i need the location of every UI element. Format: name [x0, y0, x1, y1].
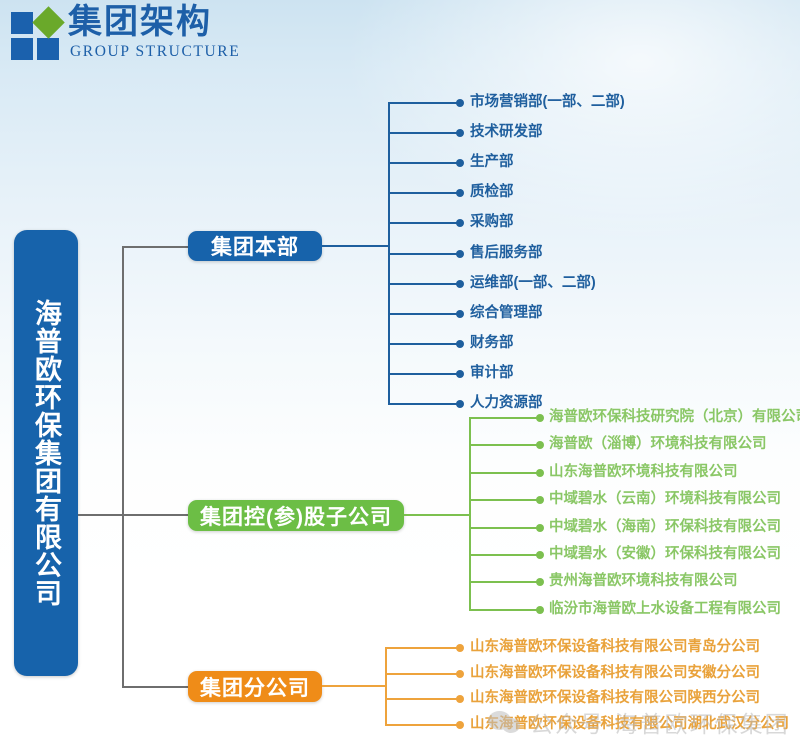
leaf-node-subsidiaries-7[interactable]: 临汾市海普欧上水设备工程有限公司	[549, 601, 781, 617]
leaf-node-headquarters-5[interactable]: 售后服务部	[470, 245, 543, 261]
wechat-icon	[488, 709, 522, 735]
trunk-connector-hq	[122, 246, 190, 248]
connector-line-headquarters-7	[388, 313, 460, 315]
connector-line-branch-companies-3	[385, 724, 460, 726]
wechat-watermark-text: 公众号·海普欧环保集团	[530, 705, 790, 739]
node-headquarters[interactable]: 集团本部	[188, 231, 322, 261]
connector-dot-subsidiaries-5	[536, 551, 544, 559]
leaf-node-subsidiaries-4[interactable]: 中域碧水（海南）环保科技有限公司	[549, 519, 781, 535]
connector-dot-headquarters-5	[456, 250, 464, 258]
connector-dot-headquarters-7	[456, 310, 464, 318]
leaf-node-headquarters-8[interactable]: 财务部	[470, 335, 514, 351]
connector-line-headquarters-8	[388, 343, 460, 345]
trunk-connector-sub	[122, 514, 190, 516]
logo-diamond-icon	[32, 6, 65, 39]
leaf-node-headquarters-3[interactable]: 质检部	[470, 184, 514, 200]
leaf-node-headquarters-9[interactable]: 审计部	[470, 365, 514, 381]
node-branch-companies-label: 集团分公司	[200, 672, 310, 702]
group-structure-logo	[10, 8, 68, 60]
connector-line-subsidiaries-1	[469, 444, 540, 446]
leaf-node-branch-companies-2[interactable]: 山东海普欧环保设备科技有限公司陕西分公司	[470, 690, 760, 706]
connector-line-branch-companies-2	[385, 698, 460, 700]
logo-square-bottom-left	[11, 38, 33, 60]
connector-dot-subsidiaries-3	[536, 496, 544, 504]
connector-dot-headquarters-10	[456, 400, 464, 408]
connector-line-subsidiaries-3	[469, 499, 540, 501]
connector-line-subsidiaries-6	[469, 581, 540, 583]
connector-spine-branch-companies	[385, 647, 387, 726]
leaf-node-branch-companies-0[interactable]: 山东海普欧环保设备科技有限公司青岛分公司	[470, 639, 760, 655]
root-node-group-company[interactable]: 海普欧环保集团有限公司	[14, 230, 78, 676]
connector-dot-subsidiaries-2	[536, 469, 544, 477]
connector-dot-subsidiaries-0	[536, 414, 544, 422]
connector-stub-headquarters	[322, 245, 390, 247]
leaf-node-branch-companies-1[interactable]: 山东海普欧环保设备科技有限公司安徽分公司	[470, 665, 760, 681]
connector-line-headquarters-2	[388, 162, 460, 164]
leaf-node-subsidiaries-1[interactable]: 海普欧（淄博）环境科技有限公司	[549, 436, 767, 452]
connector-line-subsidiaries-0	[469, 417, 540, 419]
leaf-node-subsidiaries-6[interactable]: 贵州海普欧环境科技有限公司	[549, 573, 738, 589]
connector-line-headquarters-5	[388, 253, 460, 255]
leaf-node-headquarters-6[interactable]: 运维部(一部、二部)	[470, 275, 596, 291]
page-title-cn: 集团架构	[68, 3, 212, 41]
connector-dot-headquarters-9	[456, 370, 464, 378]
node-headquarters-label: 集团本部	[211, 231, 299, 261]
connector-line-headquarters-6	[388, 283, 460, 285]
connector-dot-subsidiaries-7	[536, 606, 544, 614]
connector-dot-headquarters-3	[456, 189, 464, 197]
connector-dot-headquarters-1	[456, 129, 464, 137]
leaf-node-subsidiaries-2[interactable]: 山东海普欧环境科技有限公司	[549, 464, 738, 480]
trunk-connector-root	[78, 514, 124, 516]
connector-dot-branch-companies-1	[456, 670, 464, 678]
node-subsidiaries-label: 集团控(参)股子公司	[200, 501, 392, 531]
leaf-node-subsidiaries-3[interactable]: 中域碧水（云南）环境科技有限公司	[549, 491, 781, 507]
logo-square-bottom-right	[37, 38, 59, 60]
connector-dot-subsidiaries-4	[536, 524, 544, 532]
leaf-node-headquarters-4[interactable]: 采购部	[470, 214, 514, 230]
connector-dot-subsidiaries-1	[536, 441, 544, 449]
leaf-node-headquarters-7[interactable]: 综合管理部	[470, 305, 543, 321]
leaf-node-headquarters-10[interactable]: 人力资源部	[470, 395, 543, 411]
connector-dot-subsidiaries-6	[536, 578, 544, 586]
connector-line-subsidiaries-7	[469, 609, 540, 611]
connector-dot-headquarters-8	[456, 340, 464, 348]
connector-dot-headquarters-2	[456, 159, 464, 167]
org-chart-canvas: 集团架构 GROUP STRUCTURE 海普欧环保集团有限公司 集团本部 集团…	[0, 0, 800, 750]
connector-stub-branch-companies	[322, 685, 387, 687]
connector-line-subsidiaries-2	[469, 472, 540, 474]
connector-dot-branch-companies-2	[456, 695, 464, 703]
leaf-node-subsidiaries-5[interactable]: 中域碧水（安徽）环保科技有限公司	[549, 546, 781, 562]
trunk-connector-vertical	[122, 246, 124, 687]
connector-line-branch-companies-1	[385, 673, 460, 675]
leaf-node-headquarters-0[interactable]: 市场营销部(一部、二部)	[470, 94, 625, 110]
connector-line-subsidiaries-4	[469, 527, 540, 529]
connector-line-headquarters-4	[388, 222, 460, 224]
leaf-node-subsidiaries-0[interactable]: 海普欧环保科技研究院（北京）有限公司	[549, 409, 800, 425]
connector-line-headquarters-1	[388, 132, 460, 134]
connector-line-branch-companies-0	[385, 647, 460, 649]
page-title-en: GROUP STRUCTURE	[70, 43, 240, 61]
connector-line-subsidiaries-5	[469, 554, 540, 556]
node-subsidiaries[interactable]: 集团控(参)股子公司	[188, 500, 404, 531]
connector-line-headquarters-3	[388, 192, 460, 194]
leaf-node-headquarters-1[interactable]: 技术研发部	[470, 124, 543, 140]
connector-line-headquarters-9	[388, 373, 460, 375]
connector-line-headquarters-0	[388, 102, 460, 104]
connector-dot-headquarters-4	[456, 219, 464, 227]
connector-line-headquarters-10	[388, 403, 460, 405]
connector-dot-branch-companies-3	[456, 721, 464, 729]
leaf-node-headquarters-2[interactable]: 生产部	[470, 154, 514, 170]
logo-square-top-left	[11, 12, 33, 34]
node-branch-companies[interactable]: 集团分公司	[188, 671, 322, 702]
page-header: 集团架构 GROUP STRUCTURE	[0, 0, 800, 66]
connector-dot-headquarters-6	[456, 280, 464, 288]
wechat-watermark: 公众号·海普欧环保集团	[488, 705, 790, 739]
connector-stub-subsidiaries	[404, 514, 471, 516]
root-node-label: 海普欧环保集团有限公司	[14, 230, 78, 676]
trunk-connector-branch	[122, 686, 190, 688]
connector-dot-branch-companies-0	[456, 644, 464, 652]
connector-dot-headquarters-0	[456, 99, 464, 107]
